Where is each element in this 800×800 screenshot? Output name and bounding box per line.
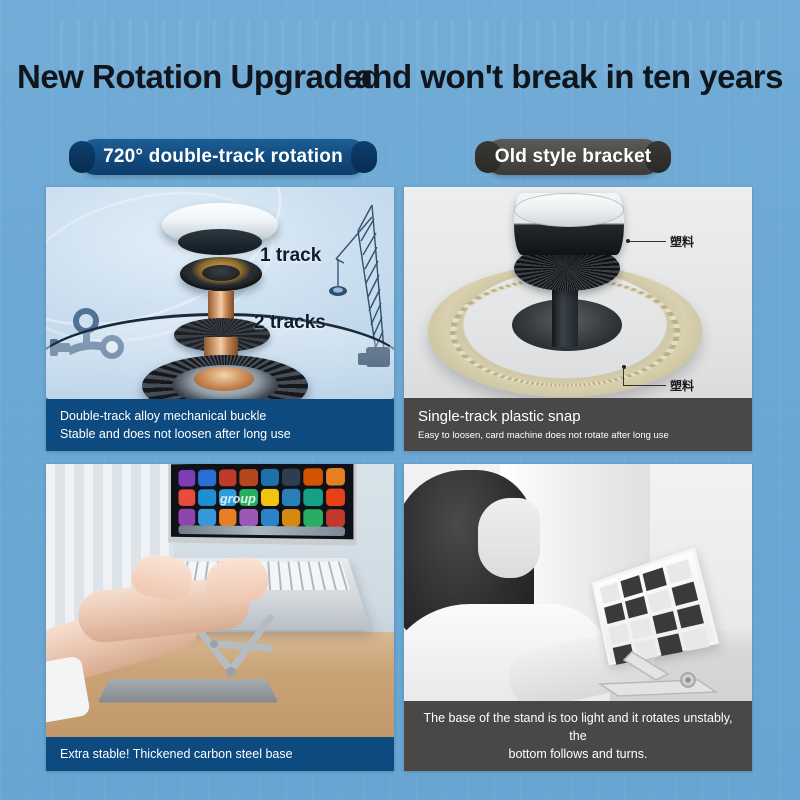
caption-line-1: The base of the stand is too light and i… <box>418 709 738 745</box>
caption-unstable-base: The base of the stand is too light and i… <box>404 701 752 771</box>
panel-new-rotation-mechanism[interactable]: 1 track 2 tracks Double-track alloy mech… <box>46 187 394 451</box>
app-icon <box>326 468 345 486</box>
app-icon <box>304 468 323 486</box>
laptop-screen: group <box>168 464 356 546</box>
annotation-1-track: 1 track <box>260 245 321 267</box>
woman-face <box>478 498 540 578</box>
panel-old-bracket-mechanism[interactable]: 塑料 塑料 Single-track plastic snap Easy to … <box>404 187 752 451</box>
app-icon <box>304 509 323 526</box>
badge-old-bracket[interactable]: Old style bracket <box>484 139 662 175</box>
stand-base-plate <box>98 679 279 702</box>
caption-line-1: Double-track alloy mechanical buckle <box>60 407 380 425</box>
tablet-content-block <box>604 603 625 624</box>
product-infographic-page: New Rotation Upgradedand won't break in … <box>0 0 800 800</box>
tablet-content-block <box>600 582 621 604</box>
app-icon <box>239 469 257 486</box>
app-icon <box>326 509 345 527</box>
app-icon <box>198 489 215 506</box>
leader-line-upper <box>630 241 666 242</box>
tablet-content-block <box>647 589 672 612</box>
tablet-content-block <box>652 611 677 634</box>
screen-watermark: group <box>220 491 256 506</box>
headline-part-2: and won't break in ten years <box>355 58 783 95</box>
app-icon <box>178 509 195 526</box>
app-icon <box>260 509 278 526</box>
app-icon <box>178 489 195 506</box>
badge-old-bracket-label: Old style bracket <box>495 146 652 168</box>
caption-carbon-steel-base: Extra stable! Thickened carbon steel bas… <box>46 737 394 771</box>
badge-new-rotation[interactable]: 720° double-track rotation <box>78 139 368 175</box>
caption-subtitle: Easy to loosen, card machine does not ro… <box>418 428 738 443</box>
screen-dock <box>178 525 345 536</box>
tablet-content-block <box>672 582 699 606</box>
caption-line-2: bottom follows and turns. <box>418 745 738 763</box>
top-disc-cap <box>162 203 278 247</box>
tablet-content-block <box>666 559 692 584</box>
leader-line-lower-vertical <box>623 367 624 386</box>
screen-app-icons <box>178 468 345 525</box>
caption-new-rotation: Double-track alloy mechanical buckle Sta… <box>46 399 394 451</box>
app-icon <box>260 469 278 486</box>
tablet-content-block <box>643 567 667 591</box>
app-icon <box>282 468 301 485</box>
caption-title: Single-track plastic snap <box>418 406 738 428</box>
panel-laptop-on-stand[interactable]: group <box>46 464 394 771</box>
annotation-2-tracks: 2 tracks <box>254 312 326 334</box>
tablet-content-block <box>677 604 704 628</box>
app-icon <box>260 489 278 506</box>
app-icon <box>219 509 237 526</box>
leader-line-lower <box>624 385 666 386</box>
annotation-plastic-lower: 塑料 <box>670 377 694 394</box>
tablet-content-block <box>630 617 653 639</box>
laptop-stand-photo: group <box>46 464 394 771</box>
caption-old-bracket: Single-track plastic snap Easy to loosen… <box>404 398 752 451</box>
app-icon <box>198 509 215 526</box>
annotation-plastic-upper: 塑料 <box>670 233 694 250</box>
app-icon <box>178 470 195 487</box>
page-title: New Rotation Upgradedand won't break in … <box>0 58 800 106</box>
app-icon <box>282 489 301 506</box>
app-icon <box>239 509 257 526</box>
app-icon <box>282 509 301 526</box>
app-icon <box>326 489 345 507</box>
tablet-content-block <box>625 596 648 618</box>
app-icon <box>304 489 323 506</box>
large-gear-core <box>194 367 254 391</box>
caption-line-2: Stable and does not loosen after long us… <box>60 425 380 443</box>
single-track-bearing <box>180 257 262 291</box>
headline-part-1: New Rotation Upgraded <box>17 58 381 95</box>
tablet-content-block <box>620 575 643 598</box>
tablet-stand <box>594 640 720 700</box>
app-icon <box>198 470 215 487</box>
badge-new-rotation-label: 720° double-track rotation <box>103 146 343 168</box>
panel-woman-with-tablet[interactable]: The base of the stand is too light and i… <box>404 464 752 771</box>
top-disc-surface <box>514 193 624 227</box>
app-icon <box>219 469 237 486</box>
caption-line-1: Extra stable! Thickened carbon steel bas… <box>60 745 380 763</box>
